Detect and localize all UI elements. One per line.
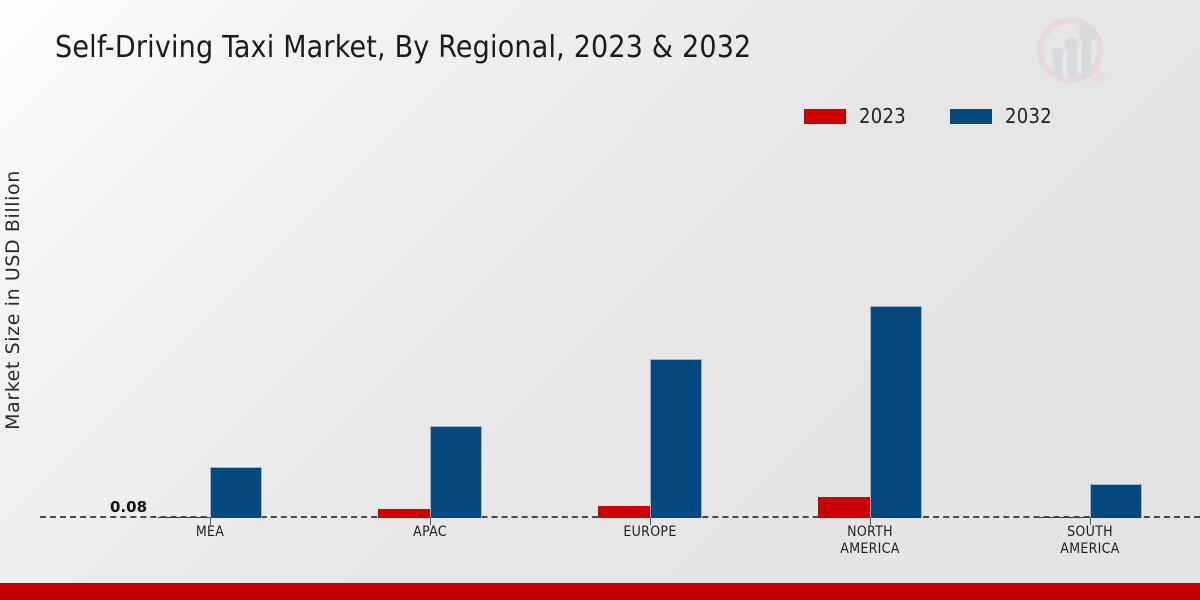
bar-europe-2032[interactable] <box>650 359 702 518</box>
x-axis-label-europe-line1: EUROPE <box>540 524 760 541</box>
x-axis-label-north-america: NORTH AMERICA <box>760 524 980 558</box>
bar-group-south-america: SOUTH AMERICA <box>980 150 1200 518</box>
bar-mea-2032[interactable] <box>210 467 262 518</box>
bar-mea-2023[interactable] <box>158 517 210 518</box>
x-axis-label-south-america-line2: AMERICA <box>980 541 1200 558</box>
legend-swatch-2032 <box>950 109 992 124</box>
legend-item-2023[interactable]: 2023 <box>804 104 906 128</box>
bar-group-mea: 0.08 MEA <box>100 150 320 518</box>
chart-title: Self-Driving Taxi Market, By Regional, 2… <box>55 30 751 65</box>
bar-group-north-america: NORTH AMERICA <box>760 150 980 518</box>
bar-south-america-2023[interactable] <box>1038 517 1090 518</box>
chart-legend: 2023 2032 <box>804 104 1052 128</box>
bar-apac-2023[interactable] <box>378 509 430 518</box>
x-axis-label-south-america-line1: SOUTH <box>980 524 1200 541</box>
y-axis-title: Market Size in USD Billion <box>2 170 24 430</box>
x-axis-label-north-america-line1: NORTH <box>760 524 980 541</box>
bar-north-america-2032[interactable] <box>870 306 922 518</box>
bar-north-america-2023[interactable] <box>818 497 870 518</box>
market-research-magnifier-logo-icon <box>1026 8 1122 104</box>
bar-europe-2023[interactable] <box>598 506 650 518</box>
x-axis-label-apac: APAC <box>320 524 540 541</box>
x-axis-label-south-america: SOUTH AMERICA <box>980 524 1200 558</box>
bottom-accent-banner <box>0 583 1200 600</box>
x-axis-label-north-america-line2: AMERICA <box>760 541 980 558</box>
bar-apac-2032[interactable] <box>430 426 482 518</box>
chart-canvas: Self-Driving Taxi Market, By Regional, 2… <box>0 0 1200 600</box>
bar-group-europe: EUROPE <box>540 150 760 518</box>
x-axis-label-mea: MEA <box>100 524 320 541</box>
bar-south-america-2032[interactable] <box>1090 484 1142 518</box>
x-axis-label-europe: EUROPE <box>540 524 760 541</box>
x-axis-label-mea-line1: MEA <box>100 524 320 541</box>
legend-label-2032: 2032 <box>1005 104 1052 128</box>
legend-item-2032[interactable]: 2032 <box>950 104 1052 128</box>
value-label-mea-2023: 0.08 <box>110 498 147 516</box>
legend-label-2023: 2023 <box>859 104 906 128</box>
plot-area: 0.08 MEA APAC EUROPE <box>40 150 1200 518</box>
legend-swatch-2023 <box>804 109 846 124</box>
x-axis-label-apac-line1: APAC <box>320 524 540 541</box>
bar-group-apac: APAC <box>320 150 540 518</box>
